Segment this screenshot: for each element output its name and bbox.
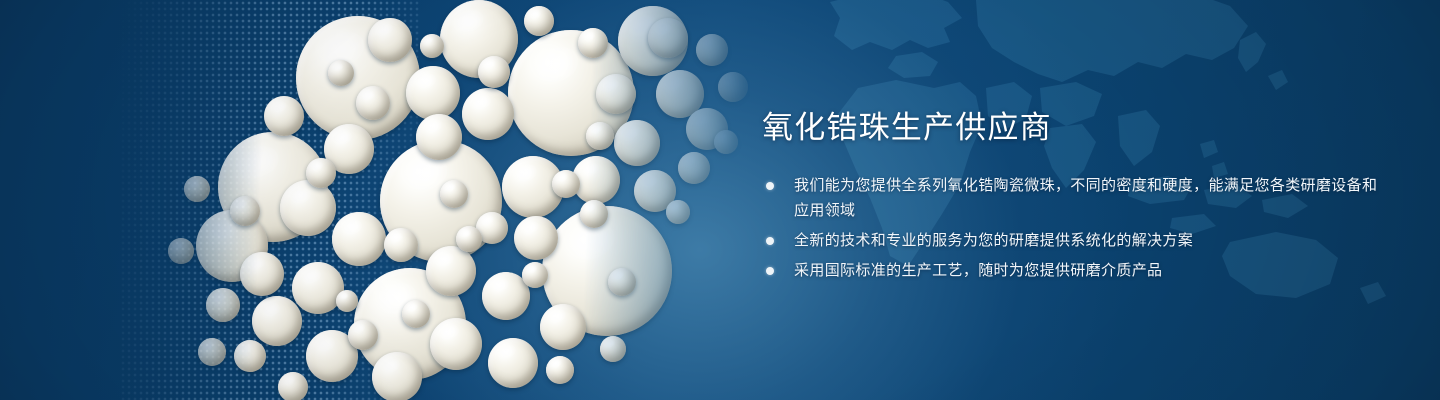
bullet-dot-icon [766, 182, 774, 190]
bullet-dot-icon [766, 267, 774, 275]
banner-text-column: 氧化锆珠生产供应商 我们能为您提供全系列氧化锆陶瓷微珠，不同的密度和硬度，能满足… [762, 108, 1382, 288]
list-item: 采用国际标准的生产工艺，随时为您提供研磨介质产品 [762, 258, 1382, 283]
list-item-label: 全新的技术和专业的服务为您的研磨提供系统化的解决方案 [794, 228, 1382, 253]
hero-banner: 氧化锆珠生产供应商 我们能为您提供全系列氧化锆陶瓷微珠，不同的密度和硬度，能满足… [0, 0, 1440, 400]
list-item-label: 我们能为您提供全系列氧化锆陶瓷微珠，不同的密度和硬度，能满足您各类研磨设备和应用… [794, 173, 1382, 223]
banner-feature-list: 我们能为您提供全系列氧化锆陶瓷微珠，不同的密度和硬度，能满足您各类研磨设备和应用… [762, 173, 1382, 283]
list-item: 我们能为您提供全系列氧化锆陶瓷微珠，不同的密度和硬度，能满足您各类研磨设备和应用… [762, 173, 1382, 223]
bullet-dot-icon [766, 237, 774, 245]
list-item-label: 采用国际标准的生产工艺，随时为您提供研磨介质产品 [794, 258, 1382, 283]
list-item: 全新的技术和专业的服务为您的研磨提供系统化的解决方案 [762, 228, 1382, 253]
banner-headline: 氧化锆珠生产供应商 [762, 108, 1382, 148]
